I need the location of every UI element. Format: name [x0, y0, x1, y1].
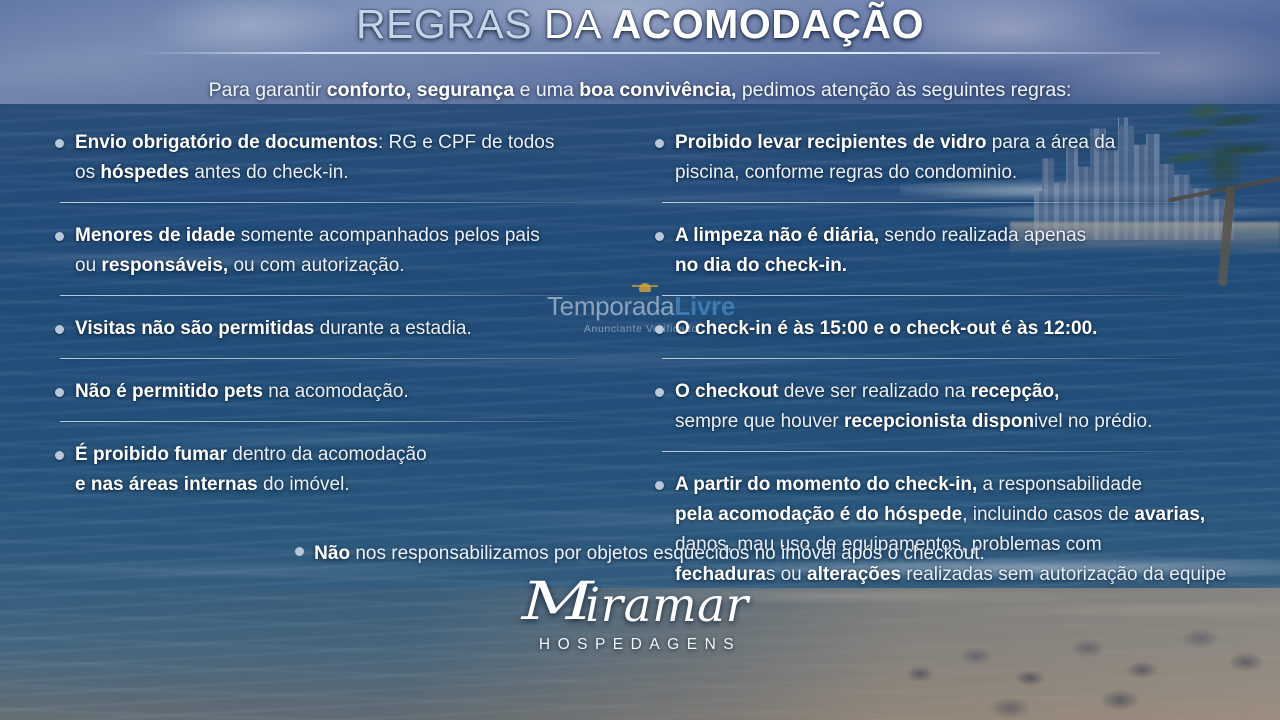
spacer — [48, 422, 612, 440]
rule-list-item: Proibido levar recipientes de vidro para… — [648, 128, 1240, 188]
rule-line: O checkout deve ser realizado na recepçã… — [675, 377, 1240, 407]
rule-text-plain: : RG e CPF de todos — [378, 132, 554, 153]
rule-list-item: Visitas não são permitidas durante a est… — [48, 314, 612, 344]
rule-text-bold: recepcionista dispon — [844, 411, 1034, 432]
rule-line: no dia do check-in. — [675, 251, 1240, 281]
rule-text-bold: A partir do momento do check-in, — [675, 474, 977, 495]
rule-list-item: Não é permitido pets na acomodação. — [48, 377, 612, 407]
rule-text-plain: ivel no prédio. — [1034, 411, 1152, 432]
rule-line: Não é permitido pets na acomodação. — [75, 377, 612, 407]
page-title: REGRAS DA ACOMODAÇÃO — [0, 1, 1280, 47]
rules-column-left: Envio obrigatório de documentos: RG e CP… — [48, 128, 612, 500]
rule-line: Menores de idade somente acompanhados pe… — [75, 221, 612, 251]
rule-line: piscina, conforme regras do condominio. — [675, 158, 1240, 188]
rule-text-bold: Menores de idade — [75, 225, 236, 246]
rule-line: Visitas não são permitidas durante a est… — [75, 314, 612, 344]
rule-line: É proibido fumar dentro da acomodação — [75, 440, 612, 470]
rule-list-item: Envio obrigatório de documentos: RG e CP… — [48, 128, 612, 188]
spacer — [48, 203, 612, 221]
brand-logo-swash: M — [522, 576, 595, 628]
rule-line: A partir do momento do check-in, a respo… — [675, 470, 1240, 500]
rules-column-right: Proibido levar recipientes de vidro para… — [648, 128, 1240, 590]
spacer — [648, 296, 1240, 314]
rule-text-bold: Não — [314, 543, 350, 564]
rule-line: Proibido levar recipientes de vidro para… — [675, 128, 1240, 158]
spacer — [648, 344, 1240, 358]
rule-text-bold: O check-in é às 15:00 e o check-out é às… — [675, 318, 1097, 339]
subtitle-seg-1: Para garantir — [209, 79, 327, 101]
rule-line: Envio obrigatório de documentos: RG e CP… — [75, 128, 612, 158]
title-divider — [146, 52, 1160, 54]
rule-list-item: A limpeza não é diária, sendo realizada … — [648, 221, 1240, 281]
rule-text-bold: responsáveis, — [101, 255, 228, 276]
rule-text-bold: no dia do check-in. — [675, 255, 847, 276]
rule-line: sempre que houver recepcionista disponiv… — [675, 407, 1240, 437]
rule-list-item: O check-in é às 15:00 e o check-out é às… — [648, 314, 1240, 344]
spacer — [48, 281, 612, 295]
rule-line: A limpeza não é diária, sendo realizada … — [675, 221, 1240, 251]
rule-text-plain: a responsabilidade — [977, 474, 1142, 495]
page-title-part-3: ACOMODAÇÃO — [612, 1, 924, 47]
rule-text-bold: e nas áreas internas — [75, 474, 258, 495]
rule-line: e nas áreas internas do imóvel. — [75, 470, 612, 500]
spacer — [48, 359, 612, 377]
rule-text-plain: , incluindo casos de — [962, 504, 1134, 525]
spacer — [648, 281, 1240, 295]
rule-list-item: A partir do momento do check-in, a respo… — [648, 470, 1240, 590]
brand-logo-name-rest: iramar — [585, 578, 749, 633]
rule-text-bold: É proibido fumar — [75, 444, 227, 465]
rule-text-bold: Envio obrigatório de documentos — [75, 132, 378, 153]
rule-text-plain: nos responsabilizamos por objetos esquec… — [350, 543, 985, 564]
brand-logo-subtitle: HOSPEDAGENS — [0, 634, 1280, 656]
rule-line: os hóspedes antes do check-in. — [75, 158, 612, 188]
rule-text-bold: Não é permitido pets — [75, 381, 263, 402]
footer-rule-item: Não nos responsabilizamos por objetos es… — [0, 539, 1280, 569]
bullet-dot-icon — [295, 547, 304, 556]
rule-line: O check-in é às 15:00 e o check-out é às… — [675, 314, 1240, 344]
rule-text-plain: ou com autorização. — [228, 255, 404, 276]
spacer — [48, 407, 612, 421]
rule-text-bold: Proibido levar recipientes de vidro — [675, 132, 987, 153]
rule-text-bold: recepção, — [971, 381, 1060, 402]
spacer — [48, 296, 612, 314]
subtitle-seg-2: conforto, segurança — [327, 79, 514, 101]
rule-list-item: O checkout deve ser realizado na recepçã… — [648, 377, 1240, 437]
spacer — [48, 344, 612, 358]
spacer — [648, 203, 1240, 221]
rule-text-plain: antes do check-in. — [189, 162, 348, 183]
rule-line: pela acomodação é do hóspede, incluindo … — [675, 500, 1240, 530]
rule-text-bold: pela acomodação é do hóspede — [675, 504, 962, 525]
brand-logo: Miramar HOSPEDAGENS — [0, 578, 1280, 656]
spacer — [648, 452, 1240, 470]
rule-text-plain: somente acompanhados pelos pais — [236, 225, 540, 246]
subtitle-seg-4: boa convivência, — [579, 79, 736, 101]
rule-text-plain: deve ser realizado na — [778, 381, 970, 402]
page-subtitle: Para garantir conforto, segurança e uma … — [0, 77, 1280, 103]
page-title-part-1: REGRAS — [356, 1, 532, 47]
rule-text-plain: dentro da acomodação — [227, 444, 427, 465]
rule-text-bold: avarias, — [1134, 504, 1205, 525]
rule-text-plain: ou — [75, 255, 101, 276]
rule-line: ou responsáveis, ou com autorização. — [75, 251, 612, 281]
subtitle-seg-3: e uma — [514, 79, 579, 101]
rule-text-plain: na acomodação. — [263, 381, 409, 402]
subtitle-seg-5: pedimos atenção às seguintes regras: — [736, 79, 1071, 101]
rule-text-plain: os — [75, 162, 100, 183]
rule-text-bold: O checkout — [675, 381, 778, 402]
rule-text-bold: A limpeza não é diária, — [675, 225, 879, 246]
page-title-part-2: DA — [532, 1, 611, 47]
rule-text-plain: sempre que houver — [675, 411, 844, 432]
rule-text-plain: do imóvel. — [258, 474, 350, 495]
spacer — [648, 188, 1240, 202]
brand-logo-name: Miramar — [0, 578, 1280, 632]
rule-text-plain: para a área da — [987, 132, 1116, 153]
spacer — [48, 188, 612, 202]
spacer — [648, 437, 1240, 451]
rule-text-plain: sendo realizada apenas — [879, 225, 1086, 246]
rule-text-plain: durante a estadia. — [314, 318, 471, 339]
rule-list-item: Menores de idade somente acompanhados pe… — [48, 221, 612, 281]
rule-text-bold: Visitas não são permitidas — [75, 318, 314, 339]
rule-text-bold: hóspedes — [100, 162, 189, 183]
rule-text-plain: piscina, conforme regras do condominio. — [675, 162, 1017, 183]
rule-list-item: É proibido fumar dentro da acomodaçãoe n… — [48, 440, 612, 500]
spacer — [648, 359, 1240, 377]
